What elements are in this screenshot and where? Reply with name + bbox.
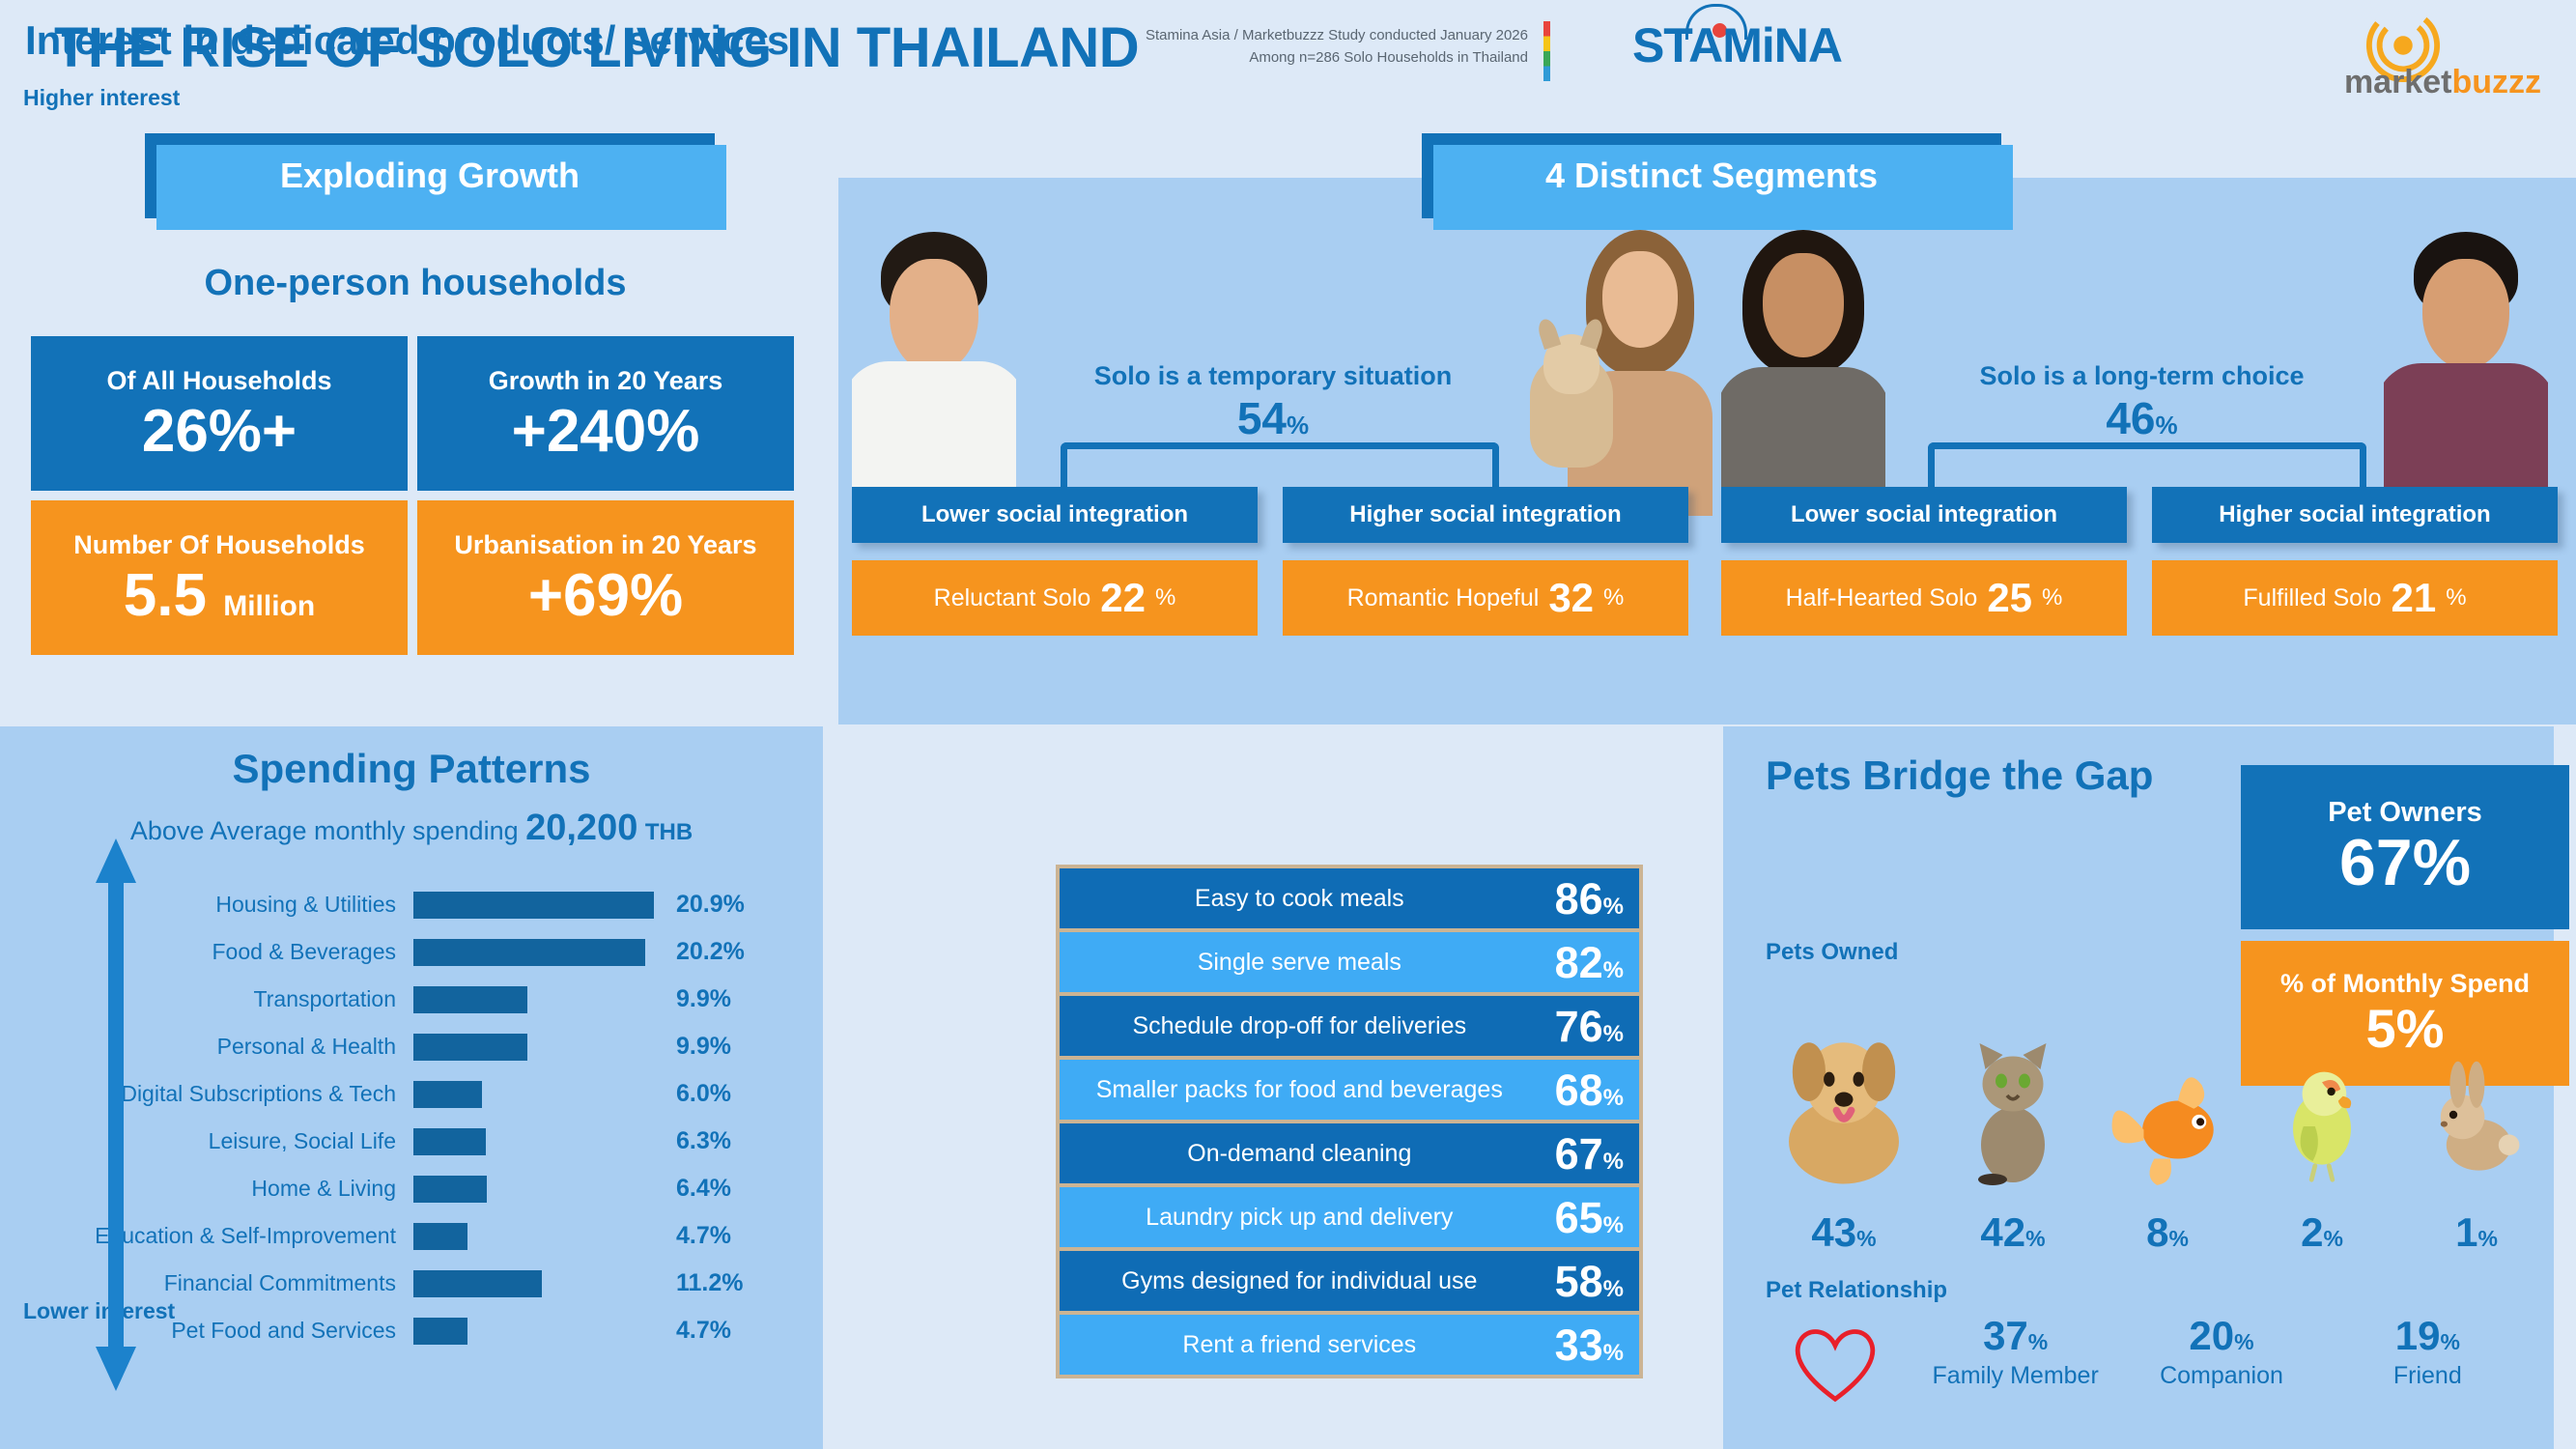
dog-icon [1752, 1009, 1936, 1198]
segment-unit: % [1155, 584, 1175, 611]
growth-stat-row-2: Number Of Households 5.5 Million Urbanis… [31, 500, 794, 655]
stat-value: +240% [512, 402, 700, 462]
segment-reluctant-solo: Reluctant Solo 22 % [852, 560, 1258, 636]
stat-label: Urbanisation in 20 Years [454, 530, 756, 560]
spending-bar-fill [413, 1223, 467, 1250]
interest-item-label: Rent a friend services [1060, 1331, 1540, 1359]
segment-unit: % [1603, 584, 1624, 611]
spending-category-label: Digital Subscriptions & Tech [0, 1081, 413, 1107]
spending-bar-fill [413, 892, 654, 919]
segment-group-longterm: Solo is a long-term choice 46% Lower soc… [1708, 178, 2576, 724]
stat-unit: Million [223, 590, 315, 622]
badge-higher-social-integration: Higher social integration [1283, 487, 1688, 543]
study-meta: Stamina Asia / Marketbuzzz Study conduct… [1074, 25, 1528, 69]
spending-bar-track [413, 1081, 655, 1108]
pet-relationship-row: 37% Family Member 20% Companion 19% Frie… [1758, 1314, 2531, 1405]
segment-percent: 46% [1708, 392, 2576, 444]
segment-percent: 54% [838, 392, 1708, 444]
segment-group-temporary: Solo is a temporary situation 54% Lower … [838, 178, 1708, 724]
heart-outline-icon [1789, 1321, 1882, 1405]
relationship-name: Companion [2118, 1362, 2324, 1390]
spending-value-label: 20.2% [655, 938, 821, 966]
spending-category-label: Financial Commitments [0, 1270, 413, 1296]
segment-fulfilled-solo: Fulfilled Solo 21 % [2152, 560, 2558, 636]
segment-caption: Solo is a temporary situation [838, 361, 1708, 391]
pet-cell-fish: 8% [2090, 1048, 2245, 1256]
pets-title: Pets Bridge the Gap [1766, 750, 2171, 803]
spending-bar-track [413, 1318, 655, 1345]
spending-category-label: Home & Living [0, 1176, 413, 1202]
stat-value: 5.5 Million [124, 566, 315, 626]
interest-item[interactable]: Easy to cook meals86% [1060, 868, 1639, 928]
spending-value-label: 6.3% [655, 1127, 821, 1155]
relationship-companion: 20% Companion [2118, 1314, 2324, 1390]
stat-value: 26%+ [142, 402, 297, 462]
pet-owners-box: Pet Owners 67% [2241, 765, 2569, 929]
stat-of-all-households: Of All Households 26%+ [31, 336, 408, 491]
stat-label: Of All Households [106, 366, 331, 396]
interest-item-label: Smaller packs for food and beverages [1060, 1076, 1540, 1104]
interest-item-label: Single serve meals [1060, 949, 1540, 977]
segment-name: Romantic Hopeful [1347, 584, 1540, 612]
spending-category-label: Transportation [0, 986, 413, 1012]
segment-name: Reluctant Solo [934, 584, 1091, 612]
interest-item-value: 76% [1555, 1005, 1624, 1048]
interest-item-label: Schedule drop-off for deliveries [1060, 1012, 1540, 1040]
spending-bar-track [413, 1034, 655, 1061]
pet-cell-dog: 43% [1752, 1009, 1936, 1256]
pet-percent: 1% [2455, 1209, 2498, 1256]
spending-category-label: Personal & Health [0, 1034, 413, 1060]
marketbuzzz-buzzz: buzzz [2451, 64, 2541, 100]
spending-bar-track [413, 1223, 655, 1250]
one-person-households-subtitle: One-person households [0, 263, 831, 304]
infographic-root: THE RISE OF SOLO LIVING IN THAILAND Stam… [0, 0, 2576, 1449]
relationship-friend: 19% Friend [2325, 1314, 2531, 1390]
spending-value-label: 4.7% [655, 1317, 821, 1345]
stat-growth-20-years: Growth in 20 Years +240% [417, 336, 794, 491]
pet-owners-label: Pet Owners [2328, 797, 2482, 829]
spending-bar-track [413, 986, 655, 1013]
spending-bar-fill [413, 1176, 487, 1203]
segment-unit: % [2446, 584, 2466, 611]
stat-label: Growth in 20 Years [489, 366, 723, 396]
segment-value: 22 [1100, 575, 1146, 621]
pet-cell-bird: 2% [2245, 1048, 2399, 1256]
spending-bar-fill [413, 1270, 542, 1297]
stat-label: Number Of Households [73, 530, 365, 560]
spending-bar-track [413, 1176, 655, 1203]
interest-item-value: 33% [1555, 1323, 1624, 1367]
marketbuzzz-market: market [2344, 64, 2452, 100]
badge-higher-social-integration: Higher social integration [2152, 487, 2558, 543]
pets-owned-row: 43%42%8%2%1% [1752, 985, 2554, 1256]
four-distinct-segments-ribbon: 4 Distinct Segments [1422, 133, 2001, 218]
fish-icon [2100, 1048, 2235, 1198]
spending-subtitle-text: Above Average monthly spending [130, 816, 525, 845]
arrow-down-icon [96, 1347, 136, 1391]
interest-item-value: 65% [1555, 1196, 1624, 1239]
relationship-value: 20% [2118, 1314, 2324, 1358]
spending-bar-track [413, 892, 655, 919]
interest-title: Interest in dedicated products/ services [25, 17, 875, 64]
pet-relationship-label: Pet Relationship [1766, 1277, 1947, 1304]
pet-percent: 43% [1811, 1209, 1876, 1256]
exploding-growth-ribbon: Exploding Growth [145, 133, 715, 218]
spending-amount: 20,200 [525, 808, 637, 848]
spending-bar-track [413, 939, 655, 966]
interest-item-label: Easy to cook meals [1060, 885, 1540, 913]
interest-axis-arrow [96, 838, 136, 1391]
dog-ear-left [1536, 317, 1561, 350]
spending-bar-fill [413, 1128, 486, 1155]
interest-item[interactable]: Gyms designed for individual use58% [1060, 1251, 1639, 1311]
arrow-shaft [108, 877, 124, 1352]
spending-bar-fill [413, 939, 645, 966]
segment-name: Fulfilled Solo [2243, 584, 2381, 612]
interest-item-label: Gyms designed for individual use [1060, 1267, 1540, 1295]
interest-item[interactable]: Schedule drop-off for deliveries76% [1060, 996, 1639, 1056]
higher-interest-label: Higher interest [23, 85, 180, 111]
interest-item-value: 58% [1555, 1260, 1624, 1303]
stamina-logo: STAMiNA [1632, 17, 1842, 73]
pets-owned-label: Pets Owned [1766, 939, 1898, 966]
segment-value: 32 [1548, 575, 1594, 621]
segment-romantic-hopeful: Romantic Hopeful 32 % [1283, 560, 1688, 636]
stat-number-of-households: Number Of Households 5.5 Million [31, 500, 408, 655]
study-line-1: Stamina Asia / Marketbuzzz Study conduct… [1074, 25, 1528, 47]
pet-percent: 42% [1980, 1209, 2045, 1256]
spending-bar-fill [413, 1034, 527, 1061]
spending-category-label: Leisure, Social Life [0, 1128, 413, 1154]
cat-icon [1940, 1024, 2085, 1198]
interest-item-label: On-demand cleaning [1060, 1140, 1540, 1168]
segment-unit: % [2042, 584, 2062, 611]
interest-item-label: Laundry pick up and delivery [1060, 1204, 1540, 1232]
spending-category-label: Housing & Utilities [0, 892, 413, 918]
interest-item-value: 82% [1555, 941, 1624, 984]
spending-value-label: 9.9% [655, 985, 821, 1013]
relationship-value: 19% [2325, 1314, 2531, 1358]
relationship-family-member: 37% Family Member [1912, 1314, 2118, 1390]
interest-item[interactable]: Smaller packs for food and beverages68% [1060, 1060, 1639, 1120]
spending-value-label: 20.9% [655, 891, 821, 919]
spending-category-label: Food & Beverages [0, 939, 413, 965]
relationship-value: 37% [1912, 1314, 2118, 1358]
segment-value: 21 [2392, 575, 2437, 621]
pet-owners-value: 67% [2339, 829, 2471, 897]
growth-stat-grid: Of All Households 26%+ Growth in 20 Year… [31, 336, 794, 665]
pet-cell-cat: 42% [1936, 1024, 2090, 1256]
heart-icon [1758, 1314, 1912, 1405]
spending-bar-track [413, 1128, 655, 1155]
rabbit-icon [2419, 1048, 2534, 1198]
marketbuzzz-wordmark: marketbuzzz [2344, 64, 2541, 101]
segment-value: 25 [1987, 575, 2032, 621]
spending-bar-track [413, 1270, 655, 1297]
spending-value-label: 11.2% [655, 1269, 821, 1297]
interest-item[interactable]: On-demand cleaning67% [1060, 1123, 1639, 1183]
badge-lower-social-integration: Lower social integration [1721, 487, 2127, 543]
spending-value-label: 6.4% [655, 1175, 821, 1203]
segment-caption: Solo is a long-term choice [1708, 361, 2576, 391]
bird-icon [2264, 1048, 2380, 1198]
interest-item[interactable]: Single serve meals82% [1060, 932, 1639, 992]
spending-value-label: 9.9% [655, 1033, 821, 1061]
spending-title: Spending Patterns [0, 746, 823, 792]
spending-value-label: 6.0% [655, 1080, 821, 1108]
interest-item-value: 68% [1555, 1068, 1624, 1112]
spending-bar-fill [413, 986, 527, 1013]
spending-bar-fill [413, 1318, 467, 1345]
spending-value-label: 4.7% [655, 1222, 821, 1250]
interest-list: Easy to cook meals86%Single serve meals8… [1056, 865, 1643, 1378]
spending-bar-fill [413, 1081, 482, 1108]
pet-cell-rabbit: 1% [2399, 1048, 2554, 1256]
brand-color-divider [1543, 21, 1550, 81]
segment-half-hearted-solo: Half-Hearted Solo 25 % [1721, 560, 2127, 636]
relationship-name: Friend [2325, 1362, 2531, 1390]
relationship-name: Family Member [1912, 1362, 2118, 1390]
interest-item[interactable]: Laundry pick up and delivery65% [1060, 1187, 1639, 1247]
interest-item-value: 67% [1555, 1132, 1624, 1176]
interest-item-value: 86% [1555, 877, 1624, 921]
interest-item[interactable]: Rent a friend services33% [1060, 1315, 1639, 1375]
marketbuzzz-logo: marketbuzzz [2362, 6, 2555, 99]
stat-urbanisation-20-years: Urbanisation in 20 Years +69% [417, 500, 794, 655]
spending-currency: THB [645, 819, 693, 845]
pet-percent: 2% [2301, 1209, 2343, 1256]
spending-category-label: Education & Self-Improvement [0, 1223, 413, 1249]
pets-panel: Pets Bridge the Gap Pet Owners 67% % of … [1723, 726, 2554, 1449]
pet-percent: 8% [2146, 1209, 2189, 1256]
study-line-2: Among n=286 Solo Households in Thailand [1074, 47, 1528, 70]
growth-stat-row-1: Of All Households 26%+ Growth in 20 Year… [31, 336, 794, 491]
segment-name: Half-Hearted Solo [1786, 584, 1978, 612]
badge-lower-social-integration: Lower social integration [852, 487, 1258, 543]
stat-value: +69% [528, 566, 683, 626]
